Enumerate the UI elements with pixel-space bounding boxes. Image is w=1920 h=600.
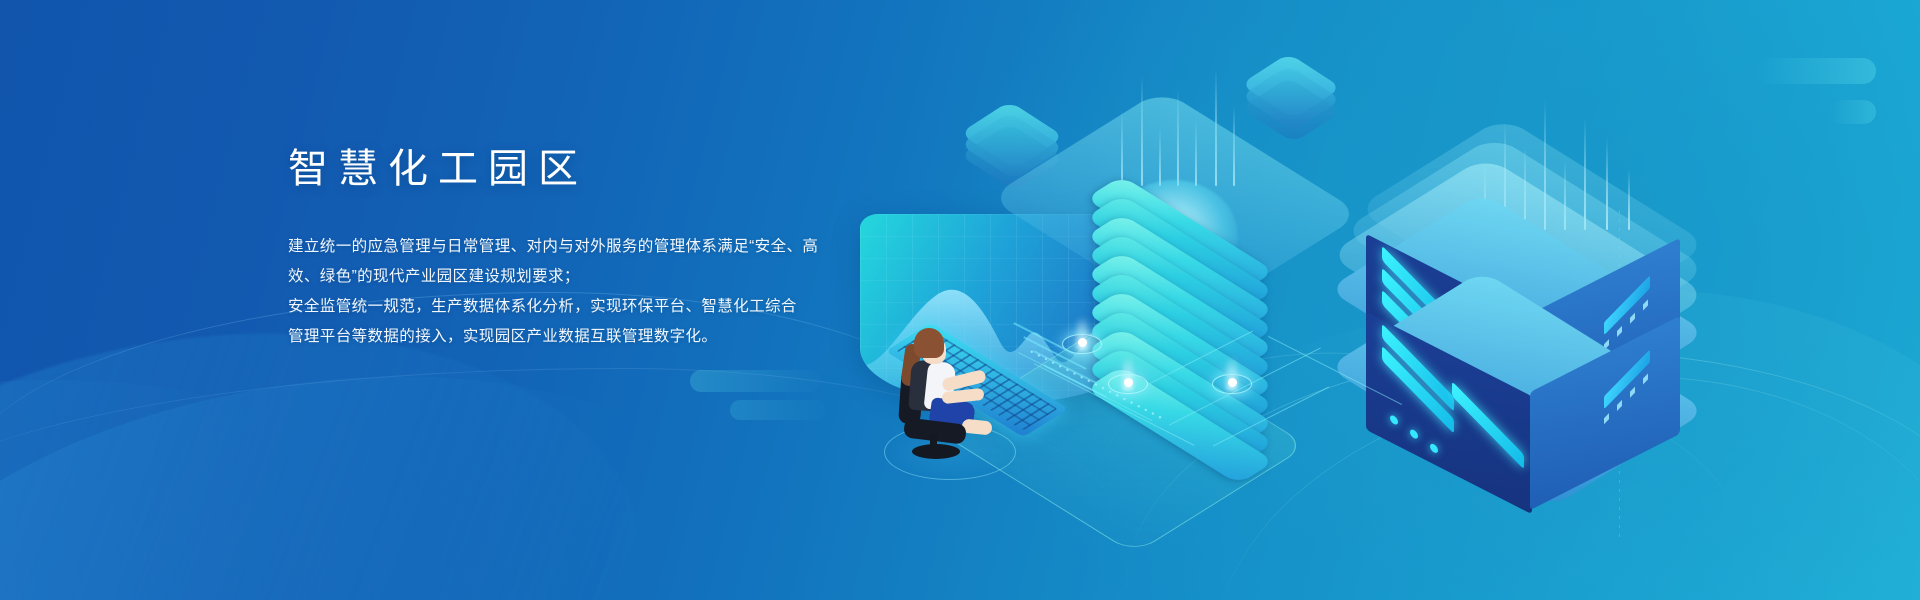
description-line-1: 建立统一的应急管理与日常管理、对内与对外服务的管理体系满足“安全、高 — [288, 232, 908, 262]
decorative-pill-mid-left-1 — [690, 370, 820, 392]
hero-banner: 智慧化工园区 建立统一的应急管理与日常管理、对内与对外服务的管理体系满足“安全、… — [0, 0, 1920, 600]
page-title: 智慧化工园区 — [288, 146, 908, 192]
seated-person-avatar — [890, 328, 1010, 448]
beacon-light-3 — [1212, 356, 1252, 396]
hero-text-block: 智慧化工园区 建立统一的应急管理与日常管理、对内与对外服务的管理体系满足“安全、… — [288, 146, 908, 352]
hero-illustration — [860, 28, 1860, 498]
description-line-4: 管理平台等数据的接入，实现园区产业数据互联管理数字化。 — [288, 322, 908, 352]
description-line-3: 安全监管统一规范，生产数据体系化分析，实现环保平台、智慧化工综合 — [288, 292, 908, 322]
hero-description: 建立统一的应急管理与日常管理、对内与对外服务的管理体系满足“安全、高 效、绿色”… — [288, 232, 908, 352]
person-hair — [914, 328, 944, 358]
decorative-pill-mid-left-2 — [730, 400, 826, 420]
background-blob-bottom-left-2 — [0, 337, 861, 600]
floating-cloud-diamond-left-icon — [980, 106, 1044, 164]
background-blob-bottom-left-3 — [0, 380, 430, 600]
description-line-2: 效、绿色”的现代产业园区建设规划要求； — [288, 262, 908, 292]
chair-base — [912, 444, 960, 459]
